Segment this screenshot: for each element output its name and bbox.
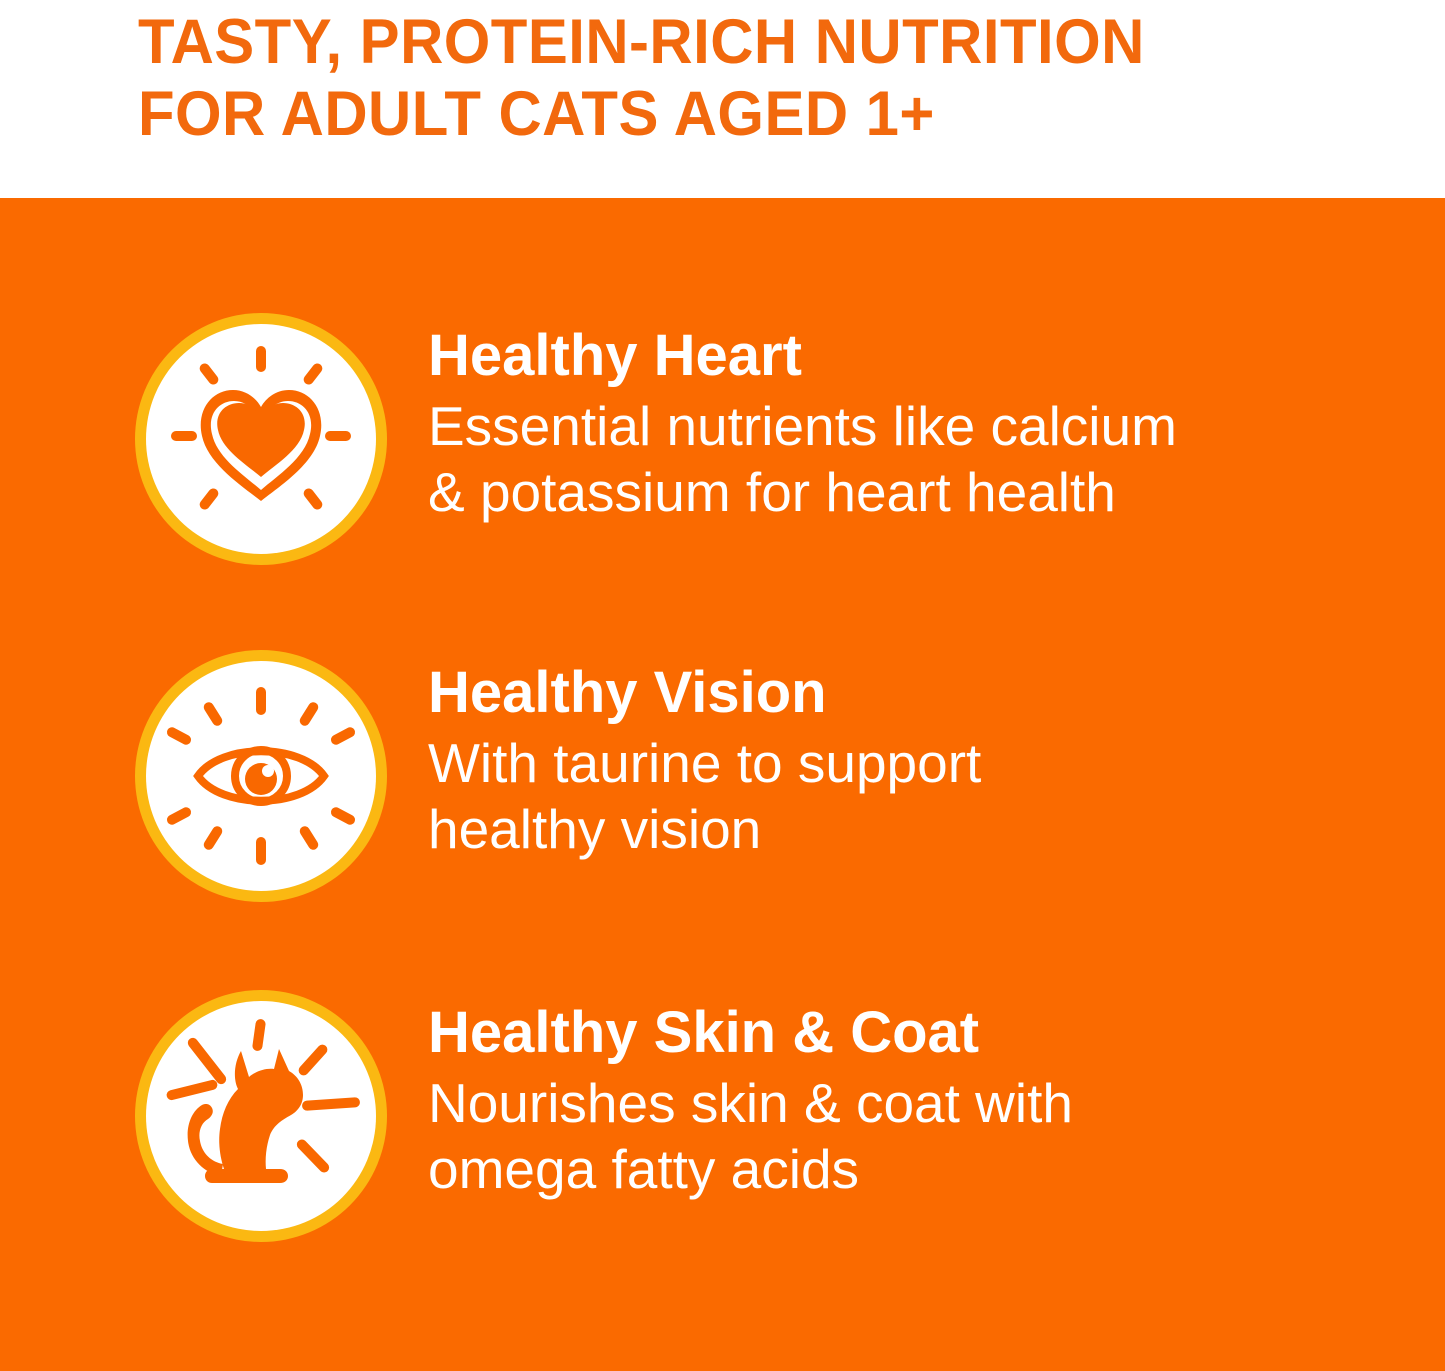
benefit-icon-badge: [135, 313, 387, 565]
benefit-text-block: Healthy Skin & Coat Nourishes skin & coa…: [428, 1002, 1308, 1202]
radiant-cat-icon: [146, 1001, 376, 1231]
benefits-panel: Healthy Heart Essential nutrients like c…: [0, 198, 1445, 1371]
benefit-description: Essential nutrients like calcium & potas…: [428, 393, 1308, 525]
benefit-item-healthy-vision: Healthy Vision With taurine to support h…: [0, 650, 1445, 950]
benefit-title: Healthy Vision: [428, 662, 1308, 724]
benefit-title: Healthy Skin & Coat: [428, 1002, 1308, 1064]
benefit-title: Healthy Heart: [428, 325, 1308, 387]
benefit-description: Nourishes skin & coat with omega fatty a…: [428, 1070, 1308, 1202]
benefit-icon-badge: [135, 650, 387, 902]
benefit-description: With taurine to support healthy vision: [428, 730, 1308, 862]
benefits-infographic: TASTY, PROTEIN-RICH NUTRITION FOR ADULT …: [0, 0, 1445, 1371]
radiant-heart-icon: [146, 324, 376, 554]
header-banner: TASTY, PROTEIN-RICH NUTRITION FOR ADULT …: [0, 0, 1445, 198]
benefit-item-healthy-heart: Healthy Heart Essential nutrients like c…: [0, 313, 1445, 613]
benefit-item-healthy-skin-coat: Healthy Skin & Coat Nourishes skin & coa…: [0, 990, 1445, 1290]
radiant-eye-icon: [146, 661, 376, 891]
benefit-icon-badge: [135, 990, 387, 1242]
page-title: TASTY, PROTEIN-RICH NUTRITION FOR ADULT …: [138, 6, 1380, 150]
benefit-text-block: Healthy Vision With taurine to support h…: [428, 662, 1308, 862]
benefit-text-block: Healthy Heart Essential nutrients like c…: [428, 325, 1308, 525]
